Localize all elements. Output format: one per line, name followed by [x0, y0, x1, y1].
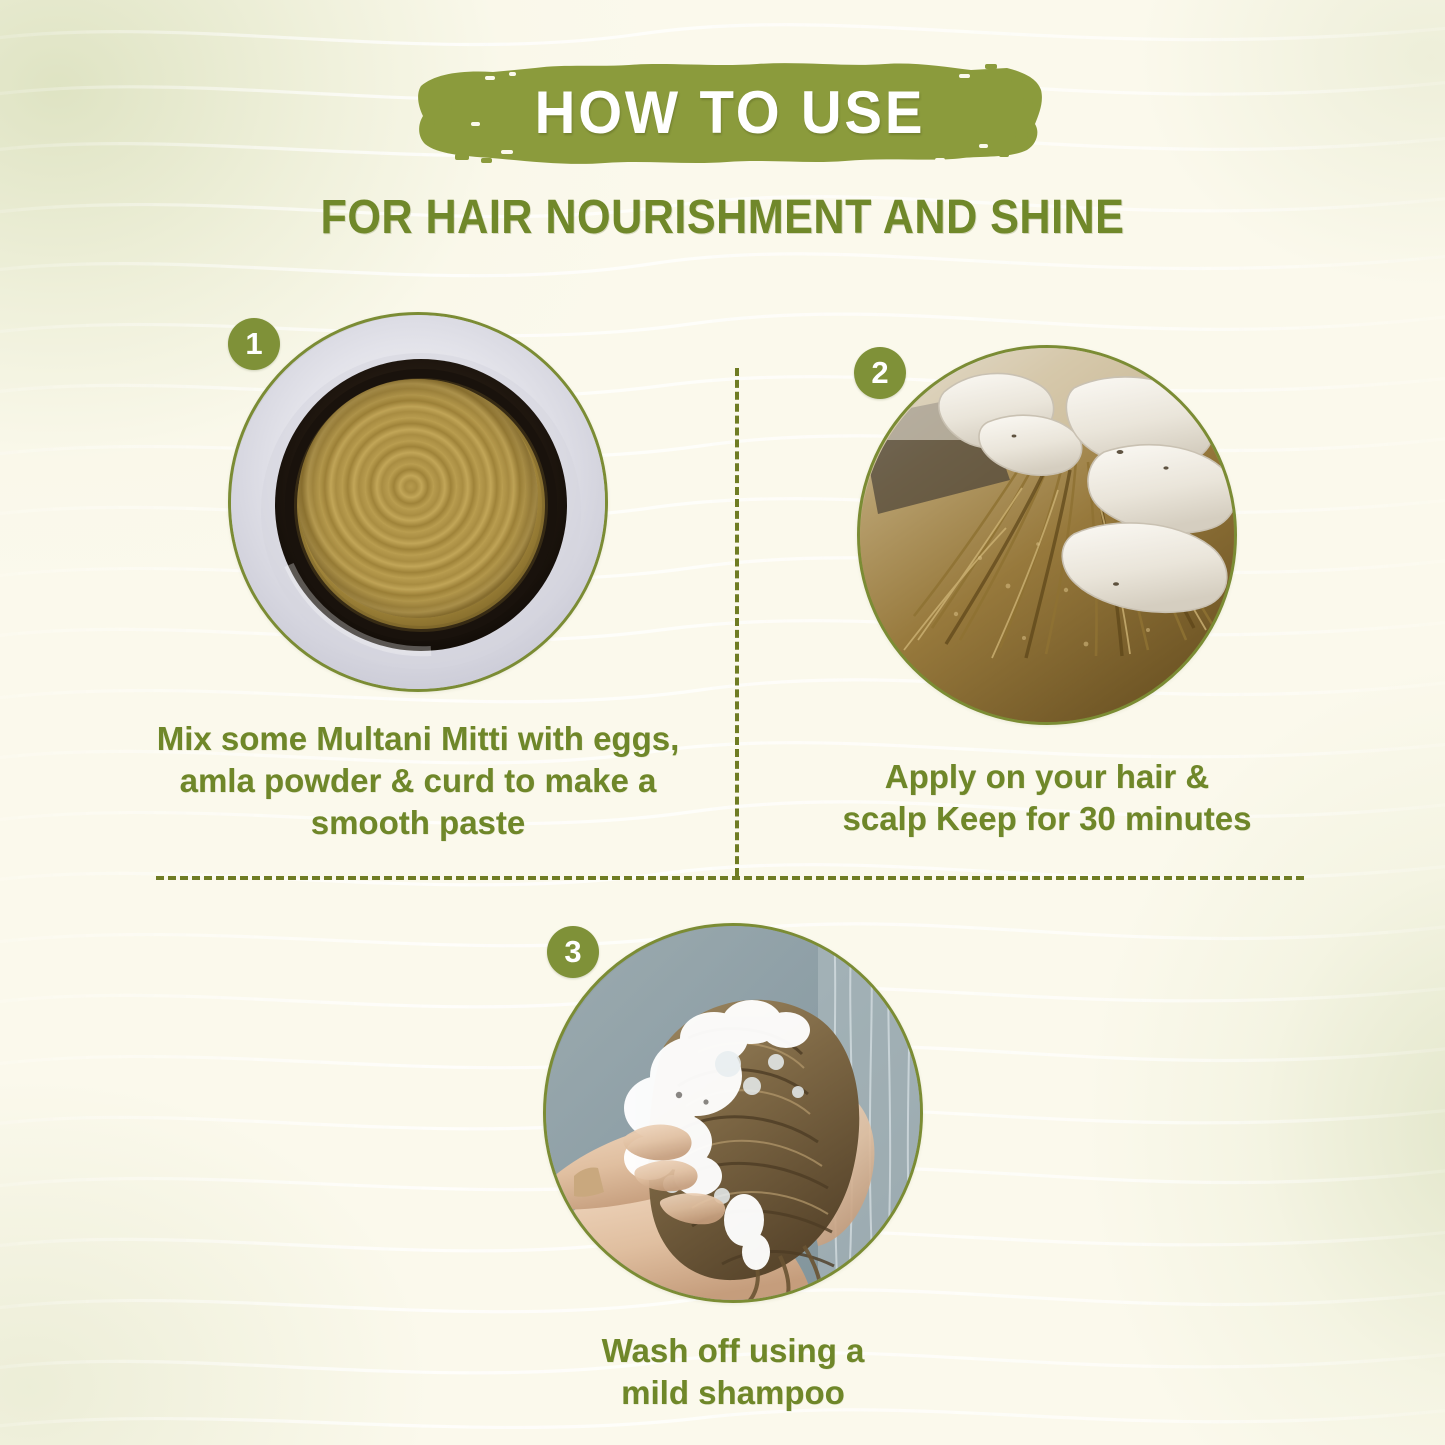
- step-2-caption-line-1: Apply on your hair &: [767, 756, 1327, 798]
- step-2-caption-line-2: scalp Keep for 30 minutes: [767, 798, 1327, 840]
- step-3-number: 3: [564, 936, 581, 967]
- step-1-caption: Mix some Multani Mitti with eggs, amla p…: [118, 718, 718, 845]
- step-1-number-badge: 1: [228, 318, 280, 370]
- step-2: 2 Apply on your hair & scalp Keep for 30…: [735, 0, 1445, 880]
- step-1-caption-line-2: amla powder & curd to make a: [118, 760, 718, 802]
- step-2-photo-inner: [860, 348, 1234, 722]
- step-2-caption: Apply on your hair & scalp Keep for 30 m…: [767, 756, 1327, 840]
- step-3-photo-inner: [546, 926, 920, 1300]
- step-2-image: [857, 345, 1237, 725]
- bowl-paste-illustration: [231, 315, 608, 692]
- washing-hair-illustration: [546, 926, 923, 1303]
- step-3: 3 Wash off using a mild shampoo: [0, 880, 1445, 1445]
- step-3-caption: Wash off using a mild shampoo: [433, 1330, 1033, 1414]
- step-1-photo-inner: [231, 315, 605, 689]
- step-3-number-badge: 3: [547, 926, 599, 978]
- step-3-caption-line-1: Wash off using a: [433, 1330, 1033, 1372]
- step-1-number: 1: [245, 328, 262, 359]
- step-1-image: [228, 312, 608, 692]
- hands-applying-paste-illustration: [860, 348, 1237, 725]
- step-2-number: 2: [871, 357, 888, 388]
- how-to-use-infographic: HOW TO USE FOR HAIR NOURISHMENT AND SHIN…: [0, 0, 1445, 1445]
- vertical-divider: [735, 368, 739, 876]
- step-3-image: [543, 923, 923, 1303]
- horizontal-divider: [156, 876, 1304, 880]
- step-3-caption-line-2: mild shampoo: [433, 1372, 1033, 1414]
- step-2-number-badge: 2: [854, 347, 906, 399]
- step-1-caption-line-3: smooth paste: [118, 802, 718, 844]
- step-1-caption-line-1: Mix some Multani Mitti with eggs,: [118, 718, 718, 760]
- step-1: 1 Mix some Multani Mitti with eggs, amla…: [0, 0, 735, 880]
